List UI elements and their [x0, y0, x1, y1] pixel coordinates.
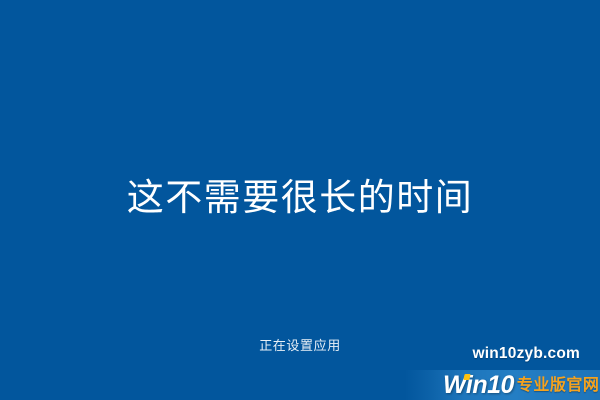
logo-dot-icon [463, 374, 470, 380]
watermark-url-text: win10zyb.com [473, 344, 581, 364]
page-title: 这不需要很长的时间 [0, 172, 600, 224]
watermark-logo-inner: Win10 专业版官网 [443, 370, 599, 400]
setup-message-block: 这不需要很长的时间 正在设置应用 [0, 0, 600, 400]
site-watermark: win10zyb.com Win10 专业版官网 [405, 342, 600, 400]
oobe-setup-screen: 这不需要很长的时间 正在设置应用 win10zyb.com Win10 专业版官… [0, 0, 600, 400]
watermark-logo-band: Win10 专业版官网 [405, 370, 600, 400]
watermark-logo-secondary: 专业版官网 [517, 370, 600, 400]
watermark-logo-primary: Win10 [443, 370, 514, 400]
